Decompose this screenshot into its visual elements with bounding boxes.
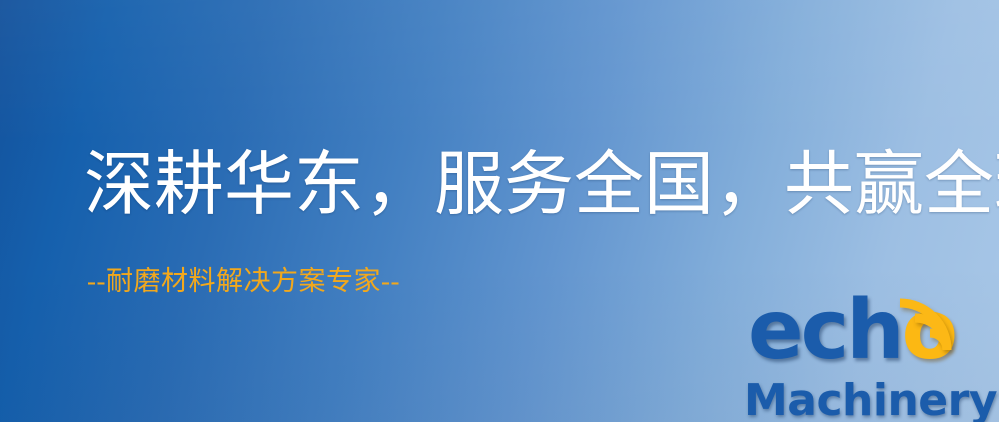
logo-tagline: Machinery®	[744, 368, 999, 422]
logo-wordmark-row: echo	[744, 292, 999, 378]
banner-subtitle: --耐磨材料解决方案专家--	[87, 268, 400, 295]
logo-tagline-text: Machinery	[744, 375, 997, 422]
logo-wordmark: echo	[748, 288, 955, 374]
logo-wordmark-prefix: ech	[748, 283, 902, 378]
promo-banner: 深耕华东，服务全国，共赢全球 --耐磨材料解决方案专家-- echo Machi…	[0, 0, 999, 422]
echo-machinery-logo[interactable]: echo Machinery®	[744, 292, 999, 422]
signal-arcs-icon	[930, 292, 996, 354]
banner-headline: 深耕华东，服务全国，共赢全球	[84, 151, 999, 221]
